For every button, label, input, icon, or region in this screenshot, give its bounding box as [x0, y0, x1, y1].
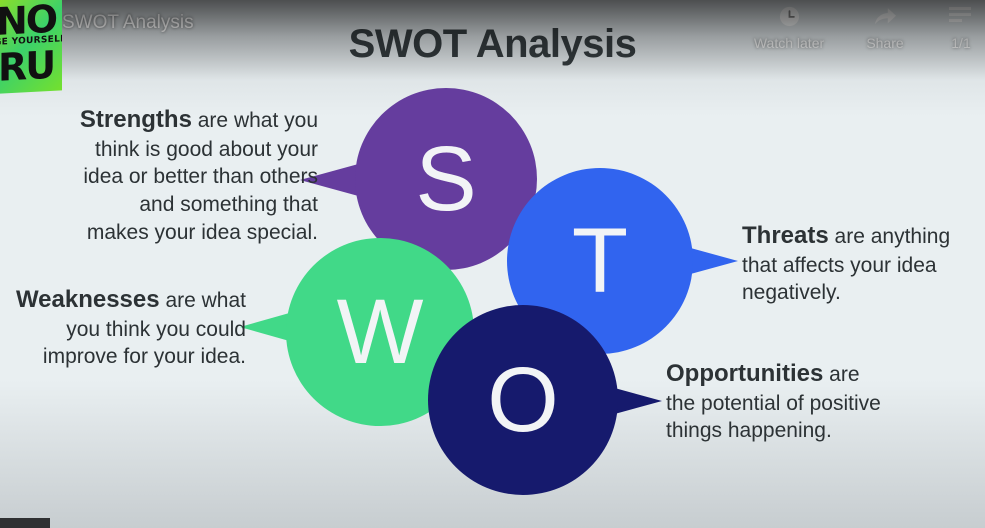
blurb-strengths: Strengths are what you think is good abo… — [78, 104, 318, 247]
blurb-weaknesses-heading: Weaknesses — [16, 286, 160, 313]
swot-circle-opportunities: O — [428, 305, 618, 495]
swot-letter-s: S — [415, 133, 476, 225]
player-top-gradient — [0, 0, 985, 80]
blurb-threats: Threats are anything that affects your i… — [742, 220, 954, 307]
swot-letter-w: W — [337, 286, 424, 378]
channel-watermark-line3: RU — [0, 43, 54, 90]
blurb-opportunities-heading: Opportunities — [666, 360, 823, 387]
blurb-strengths-heading: Strengths — [80, 106, 192, 133]
blurb-weaknesses: Weaknesses are what you think you could … — [14, 284, 246, 371]
swot-letter-o: O — [487, 354, 559, 446]
video-player[interactable]: SWOT Analysis S T W O Strengths are what… — [0, 0, 985, 528]
progress-bar[interactable] — [0, 518, 50, 528]
swot-letter-t: T — [572, 215, 628, 307]
blurb-opportunities: Opportunities are the potential of posit… — [666, 358, 884, 445]
channel-watermark[interactable]: NO GE YOURSELF RU — [0, 0, 62, 94]
blurb-threats-heading: Threats — [742, 222, 829, 249]
